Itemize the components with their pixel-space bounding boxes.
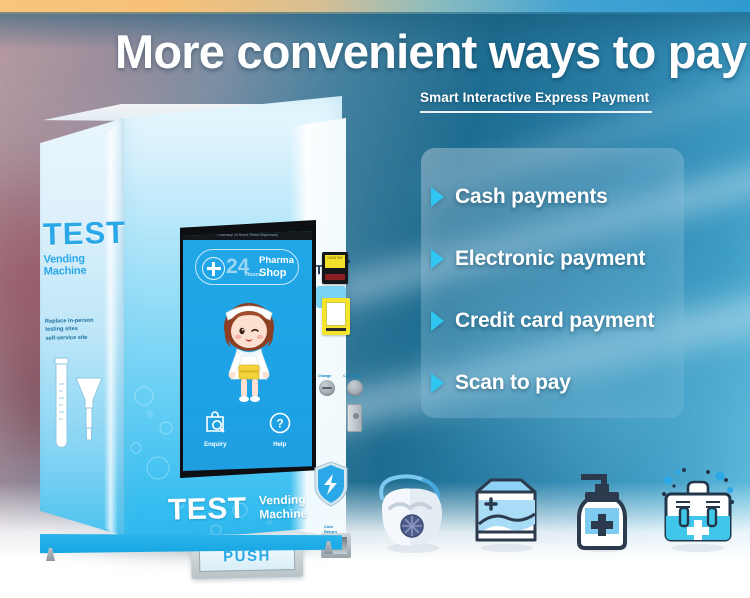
product-icon-first-aid-kit <box>654 464 740 560</box>
test-tube-and-funnel-icon <box>46 354 108 464</box>
page-title: More convenient ways to pay <box>115 24 715 79</box>
front-brand-line2: Machine <box>259 507 307 522</box>
list-item: Cash payments <box>431 168 684 226</box>
bag-search-icon <box>202 409 228 435</box>
triangle-right-icon <box>431 311 444 331</box>
security-shield-icon <box>312 460 350 508</box>
coin-slot-mark <box>322 387 332 389</box>
coin-insert-label: Coin Insert <box>343 374 362 378</box>
side-brand-title: TEST <box>42 217 109 250</box>
screen-action-buttons: Enquiry ? Help <box>183 409 312 448</box>
front-footer-line1: Replace in-person testing sites <box>170 595 300 598</box>
medical-cross-icon <box>202 257 225 280</box>
coin-insert-port[interactable] <box>347 380 363 396</box>
product-icons-row <box>368 462 740 560</box>
bill-acceptor-module[interactable] <box>322 298 350 335</box>
payment-option-label: Electronic payment <box>455 247 645 271</box>
promo-banner: More convenient ways to pay Smart Intera… <box>0 0 750 598</box>
badge-line-1: Pharma <box>259 255 294 267</box>
product-icon-tissue-box <box>463 464 549 560</box>
front-branding: TEST Vending Machine <box>168 490 308 527</box>
coin-labels-row: Change Coin Insert <box>318 374 362 378</box>
payment-option-label: Cash payments <box>455 185 608 209</box>
front-brand-subtitle: Vending Machine <box>259 494 308 523</box>
screen-button-enquiry[interactable]: Enquiry <box>192 409 238 448</box>
triangle-right-icon <box>431 187 444 207</box>
coin-ports-row <box>319 380 363 396</box>
side-panel-branding: TEST Vending Machine Replace in-person t… <box>42 217 111 343</box>
payment-options-list: Cash payments Electronic payment Credit … <box>421 148 684 418</box>
subtitle-text: Smart Interactive Express Payment <box>420 90 675 105</box>
payment-options-panel: Cash payments Electronic payment Credit … <box>421 148 684 418</box>
svg-text:?: ? <box>276 417 283 431</box>
nurse-mascot-illustration <box>209 287 289 405</box>
product-icon-sanitizer <box>559 464 645 560</box>
triangle-right-icon <box>431 249 444 269</box>
front-brand-title: TEST <box>168 492 247 528</box>
tissue-box-icon <box>463 464 549 560</box>
list-item: Scan to pay <box>431 354 684 412</box>
screen-button-label: Enquiry <box>192 442 238 448</box>
subtitle-block: Smart Interactive Express Payment <box>420 90 675 113</box>
first-aid-kit-icon <box>654 464 740 560</box>
vending-machine-illustration: TCN TEST Vending Machine Replace in-pers… <box>36 96 346 556</box>
bill-acceptor-face <box>326 302 346 326</box>
question-mark-icon: ? <box>267 409 293 435</box>
list-item: Credit card payment <box>431 292 684 350</box>
card-swipe-slot[interactable] <box>325 274 345 280</box>
payment-option-label: Credit card payment <box>455 309 654 333</box>
pharma-shop-badge: 24 Hours Pharma Shop <box>195 249 299 285</box>
card-reader-module[interactable]: CARD PAY <box>322 252 348 284</box>
respirator-mask-icon <box>368 464 454 560</box>
bill-insert-slot[interactable] <box>326 328 346 331</box>
cabinet-lock-icon[interactable] <box>347 404 362 432</box>
front-footer-text: Replace in-person testing sites self-ser… <box>170 595 300 598</box>
hand-sanitizer-icon <box>559 464 645 560</box>
list-item: Electronic payment <box>431 230 684 288</box>
side-brand-subtitle: Vending Machine <box>43 252 110 278</box>
subtitle-underline <box>420 111 652 113</box>
side-tagline-line2: self-service site <box>45 333 111 343</box>
side-tagline-line1: Replace in-person testing sites <box>45 316 111 334</box>
payment-option-label: Scan to pay <box>455 371 571 395</box>
touchscreen-display[interactable]: Pharmacy 24 Hours Smart Dispensary 24 Ho… <box>183 231 312 471</box>
screen-button-help[interactable]: ? Help <box>257 409 303 448</box>
screen-button-label: Help <box>257 442 303 448</box>
card-reader-display: CARD PAY <box>325 255 345 268</box>
badge-line-2: Shop <box>259 267 287 281</box>
payment-module-column: CARD PAY Change Coin Insert <box>320 246 360 476</box>
change-label: Change <box>318 374 331 378</box>
product-icon-mask <box>368 464 454 560</box>
side-tagline: Replace in-person testing sites self-ser… <box>45 316 112 343</box>
triangle-right-icon <box>431 373 444 393</box>
